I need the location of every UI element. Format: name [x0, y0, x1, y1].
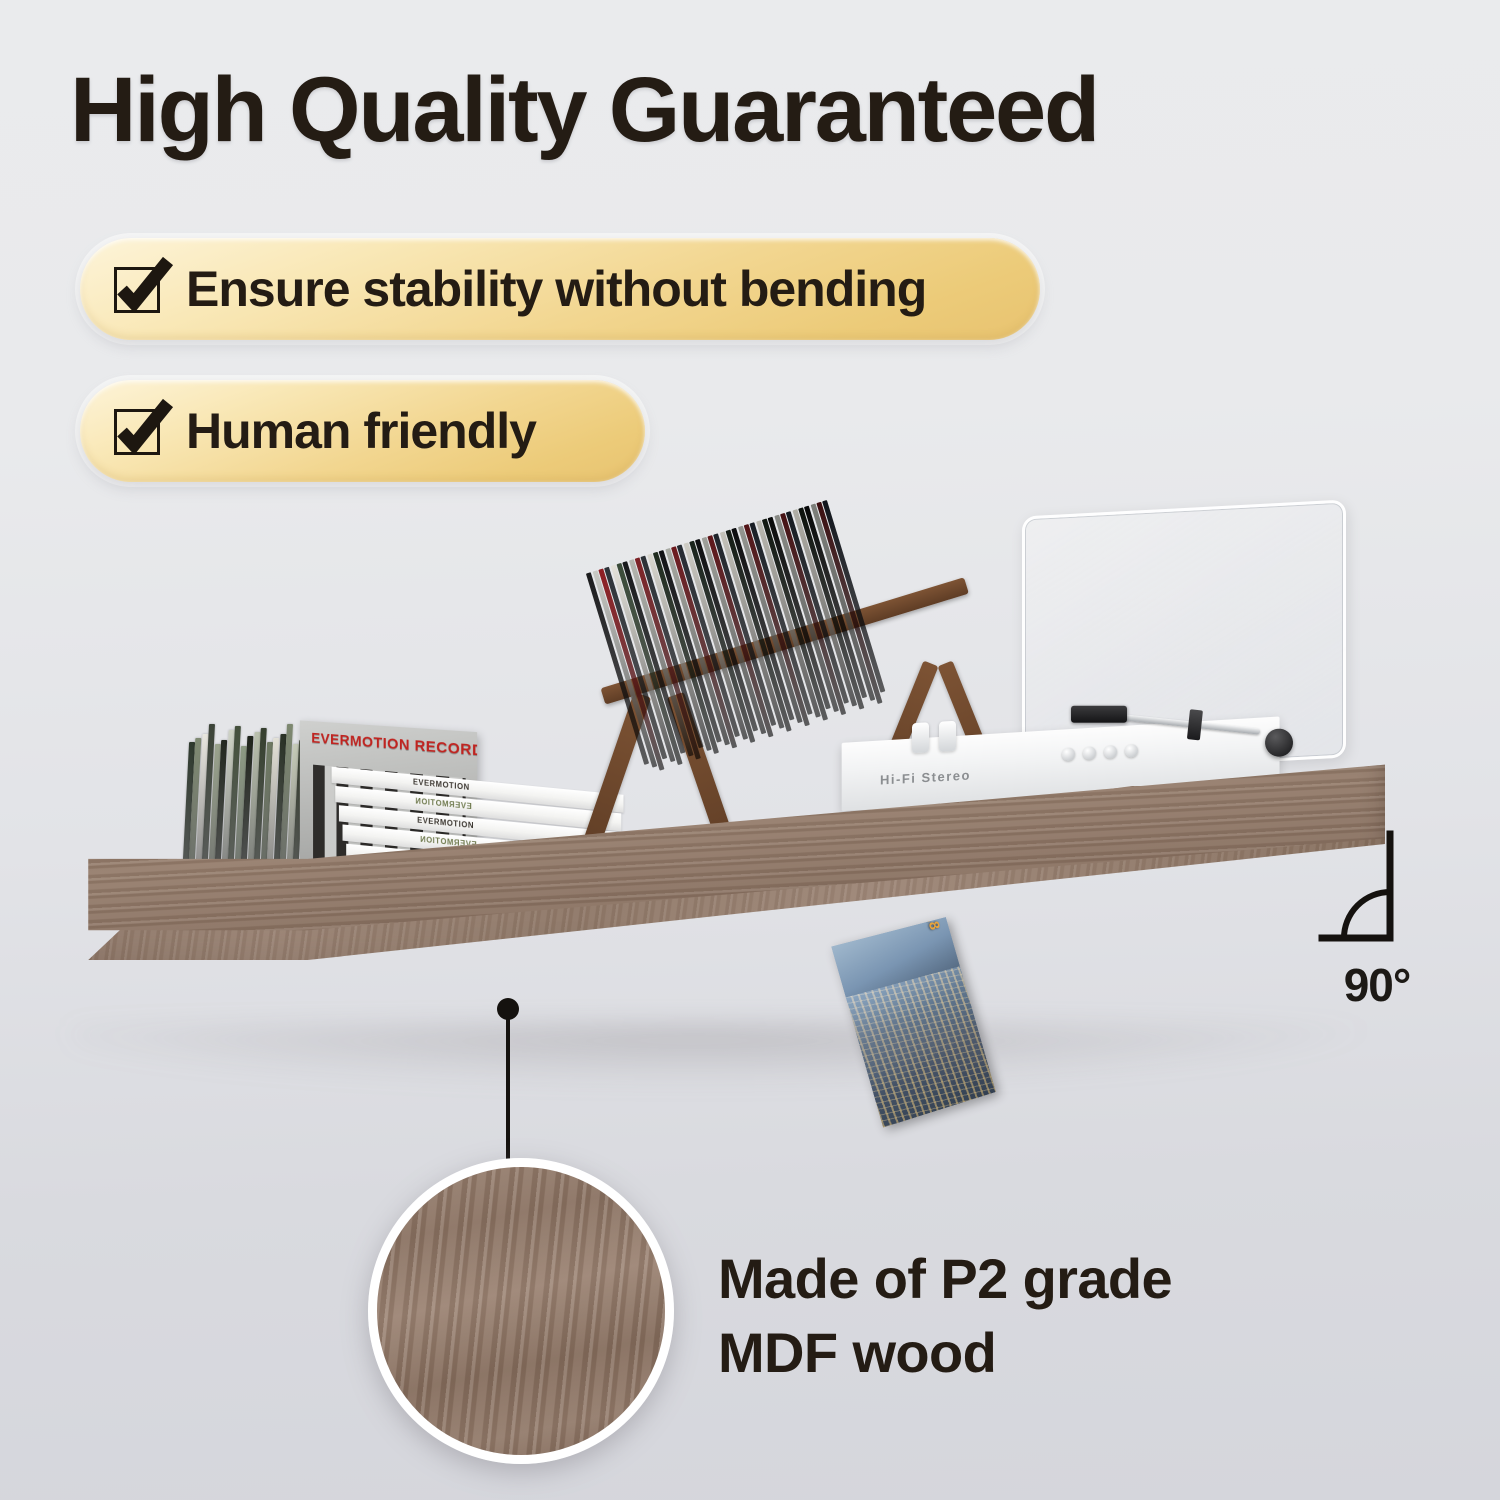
shelf-product-scene: EVERMOTION RECORDS EVERMOTION EVERMOTION… — [0, 430, 1500, 1110]
feature-badge-stability: Ensure stability without bending — [80, 238, 1040, 340]
right-angle-annotation: 90° — [1318, 830, 1438, 1010]
product-feature-image: High Quality Guaranteed Ensure stability… — [0, 0, 1500, 1500]
caption-line-1: Made of P2 grade — [718, 1242, 1358, 1316]
wood-grain-closeup-icon — [368, 1158, 674, 1464]
leader-line-icon — [506, 1018, 510, 1170]
angle-label: 90° — [1322, 958, 1432, 1012]
checkbox-check-icon — [110, 261, 172, 317]
book-spine-label: EVERMOTION — [415, 797, 472, 812]
caption-line-2: MDF wood — [718, 1316, 1358, 1390]
album-ambient-chillout: Ambient Chillout 2018 — [831, 917, 996, 1127]
badge-label: Ensure stability without bending — [186, 264, 926, 314]
album-title: EVERMOTION RECORDS — [311, 729, 471, 758]
shelf-shadow — [70, 1025, 1370, 1085]
album-title: Ambient Chillout 2018 — [881, 917, 943, 932]
turntable-knobs-icon — [912, 721, 956, 753]
leader-dot-icon — [497, 998, 519, 1020]
right-angle-icon — [1318, 830, 1438, 960]
material-caption: Made of P2 grade MDF wood — [718, 1242, 1358, 1390]
book-spine-label: EVERMOTION — [417, 816, 474, 831]
page-title: High Quality Guaranteed — [70, 62, 1310, 159]
book-spine-label: EVERMOTION — [413, 777, 470, 792]
